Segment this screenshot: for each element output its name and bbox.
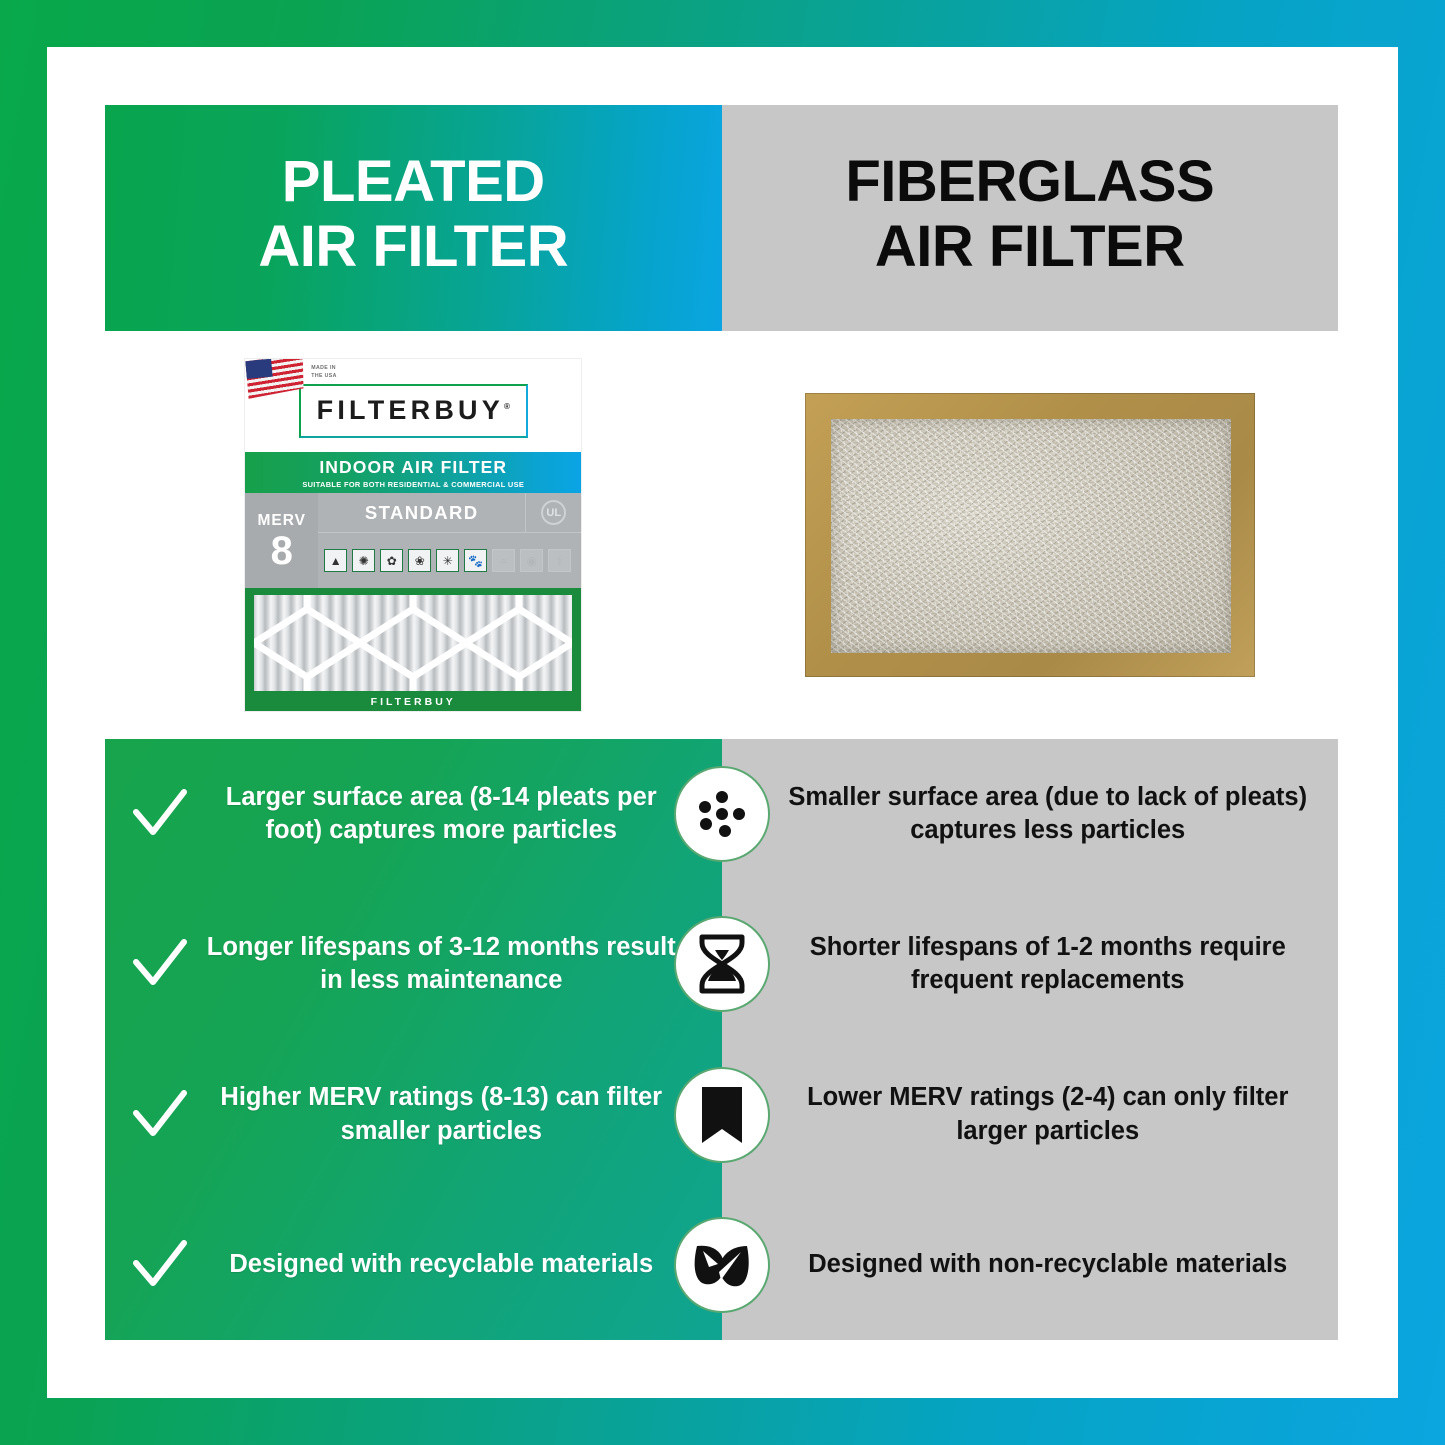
leaves-glyph [691, 1236, 753, 1294]
outer-gradient-frame: PLEATED AIR FILTER FIBERGLASS AIR FILTER… [0, 0, 1445, 1445]
header-pleated: PLEATED AIR FILTER [105, 105, 722, 331]
filterbuy-logo-box: FILTERBUY® [299, 384, 528, 438]
checkmark-icon [129, 1089, 191, 1141]
page-canvas: PLEATED AIR FILTER FIBERGLASS AIR FILTER… [47, 47, 1398, 1398]
package-spec-area: MERV 8 STANDARD UL [245, 493, 581, 588]
hourglass-icon [674, 916, 770, 1012]
grade-label: STANDARD [318, 502, 525, 524]
bacteria-icon: ✳ [436, 549, 459, 572]
merv-label: MERV [257, 512, 306, 530]
package-subtitle: SUITABLE FOR BOTH RESIDENTIAL & COMMERCI… [302, 480, 524, 489]
row-left-text: Longer lifespans of 3-12 months result i… [205, 931, 678, 997]
row-left-text: Higher MERV ratings (8-13) can filter sm… [205, 1081, 678, 1147]
header-fiberglass-title: FIBERGLASS AIR FILTER [845, 150, 1214, 280]
pollen-icon: ✺ [352, 549, 375, 572]
bookmark-icon [674, 1067, 770, 1163]
row-right-text: Shorter lifespans of 1-2 months require … [782, 931, 1315, 997]
merv-rating-block: MERV 8 [245, 493, 318, 588]
leaves-icon [674, 1217, 770, 1313]
pleated-product-cell: MADE IN THE USA FILTERBUY® INDOOR AIR FI… [105, 331, 722, 739]
center-icon-badges [666, 739, 778, 1340]
product-images-band: MADE IN THE USA FILTERBUY® INDOOR AIR FI… [105, 331, 1338, 739]
row-left-pleated: Larger surface area (8-14 pleats per foo… [105, 781, 722, 847]
filterbuy-package-image: MADE IN THE USA FILTERBUY® INDOOR AIR FI… [245, 359, 581, 711]
row-right-fiberglass: Designed with non-recyclable materials [722, 1248, 1339, 1281]
row-right-text: Lower MERV ratings (2-4) can only filter… [782, 1081, 1315, 1147]
hourglass-glyph [695, 933, 749, 995]
infographic-content: PLEATED AIR FILTER FIBERGLASS AIR FILTER… [105, 105, 1338, 1340]
indoor-air-filter-label: INDOOR AIR FILTER [319, 457, 507, 478]
mold-spores-icon: ❀ [408, 549, 431, 572]
ul-certification-block: UL [525, 493, 581, 532]
merv-value: 8 [271, 532, 293, 570]
comparison-section: Larger surface area (8-14 pleats per foo… [105, 739, 1338, 1340]
headers-band: PLEATED AIR FILTER FIBERGLASS AIR FILTER [105, 105, 1338, 331]
made-in-usa-label: MADE IN THE USA [311, 365, 337, 381]
badge-slot [666, 1190, 778, 1340]
grade-row: STANDARD UL [318, 493, 581, 533]
row-left-pleated: Higher MERV ratings (8-13) can filter sm… [105, 1081, 722, 1147]
row-left-text: Larger surface area (8-14 pleats per foo… [205, 781, 678, 847]
package-gradient-band: INDOOR AIR FILTER SUITABLE FOR BOTH RESI… [245, 452, 581, 493]
smoke-icon: ≈ [492, 549, 515, 572]
ul-certification-icon: UL [541, 500, 566, 525]
trademark-mark: ® [504, 402, 510, 411]
row-right-text: Smaller surface area (due to lack of ple… [782, 781, 1315, 847]
fiberglass-filter-image [805, 393, 1255, 677]
particles-dots [691, 783, 753, 845]
particles-icon [674, 766, 770, 862]
fiberglass-media [831, 419, 1231, 653]
row-right-text: Designed with non-recyclable materials [782, 1248, 1315, 1281]
pet-dander-icon: 🐾 [464, 549, 487, 572]
checkmark-icon [129, 1239, 191, 1291]
checkmark-icon [129, 788, 191, 840]
row-right-fiberglass: Shorter lifespans of 1-2 months require … [722, 931, 1339, 997]
dust-lint-icon: ▲ [324, 549, 347, 572]
pleated-filter-media [254, 595, 572, 691]
fiberglass-product-cell [722, 331, 1339, 739]
capsule-icon: ◉ [520, 549, 543, 572]
header-pleated-title: PLEATED AIR FILTER [258, 150, 568, 280]
checkmark-icon [129, 938, 191, 990]
package-footer-logo: FILTERBUY [245, 696, 581, 708]
pleated-media-window: FILTERBUY [245, 588, 581, 711]
row-left-text: Designed with recyclable materials [205, 1248, 678, 1281]
package-top: MADE IN THE USA FILTERBUY® [245, 359, 581, 452]
bookmark-glyph [698, 1085, 746, 1145]
row-left-pleated: Longer lifespans of 3-12 months result i… [105, 931, 722, 997]
row-right-fiberglass: Smaller surface area (due to lack of ple… [722, 781, 1339, 847]
badge-slot [666, 1040, 778, 1190]
badge-slot [666, 739, 778, 889]
row-left-pleated: Designed with recyclable materials [105, 1239, 722, 1291]
support-wire-grid-icon [254, 595, 572, 691]
filterbuy-logo-text: FILTERBUY [317, 395, 504, 425]
virus-icon: ⚕ [548, 549, 571, 572]
filterbuy-logo: FILTERBUY® [317, 395, 510, 426]
dust-mite-icon: ✿ [380, 549, 403, 572]
package-grade-area: STANDARD UL ▲ ✺ ✿ ❀ [318, 493, 581, 588]
usa-flag-icon [245, 359, 306, 399]
badge-slot [666, 889, 778, 1039]
package-capability-icons: ▲ ✺ ✿ ❀ ✳ 🐾 ≈ ◉ ⚕ [318, 533, 581, 588]
row-right-fiberglass: Lower MERV ratings (2-4) can only filter… [722, 1081, 1339, 1147]
header-fiberglass: FIBERGLASS AIR FILTER [722, 105, 1339, 331]
